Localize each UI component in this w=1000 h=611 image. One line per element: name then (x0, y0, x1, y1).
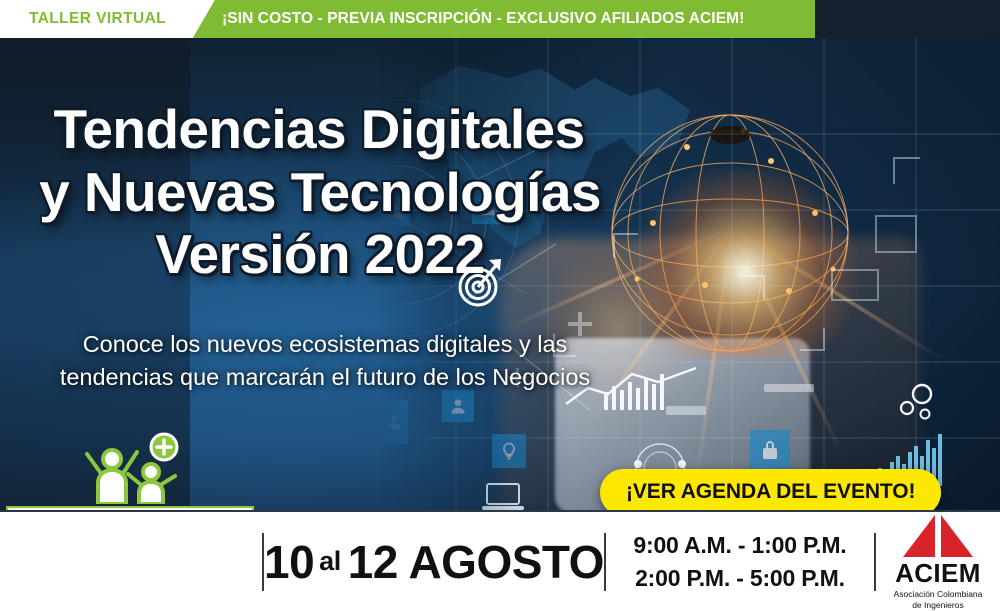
aciem-logo-name: ACIEM (884, 558, 992, 589)
person-avatar-icon (442, 390, 474, 422)
title-line-3: Versión 2022 (0, 223, 640, 286)
top-announcement-bar: TALLER VIRTUAL ¡SIN COSTO - PREVIA INSCR… (0, 0, 1000, 38)
laptop-icon (480, 480, 526, 510)
date-connector: al (319, 546, 341, 577)
aciem-logo-sub1: Asociación Colombiana (884, 589, 992, 599)
view-agenda-button[interactable]: ¡VER AGENDA DEL EVENTO! (600, 469, 941, 510)
lock-icon (750, 430, 790, 470)
target-arrow-icon (448, 254, 504, 310)
schedule-afternoon: 2:00 P.M. - 5:00 P.M. (635, 562, 845, 595)
promo-conditions-label: ¡SIN COSTO - PREVIA INSCRIPCIÓN - EXCLUS… (222, 0, 744, 38)
date-end-and-month: 12 AGOSTO (348, 535, 604, 589)
title-line-1: Tendencias Digitales (0, 98, 640, 161)
event-date: 10 al 12 AGOSTO (264, 535, 604, 589)
lightbulb-icon (492, 434, 526, 468)
event-schedule: 9:00 A.M. - 1:00 P.M. 2:00 P.M. - 5:00 P… (606, 529, 874, 594)
aciem-logo-cell: ACIEM Asociación Colombiana de Ingeniero… (876, 513, 1000, 610)
aciem-logo-sub2: de Ingenieros (884, 600, 992, 610)
event-title-group: Tendencias Digitales y Nuevas Tecnología… (0, 98, 640, 286)
footer-left-spacer (0, 512, 262, 611)
schedule-morning: 9:00 A.M. - 1:00 P.M. (633, 529, 846, 562)
title-line-2: y Nuevas Tecnologías (0, 161, 640, 224)
gears-icon (888, 374, 944, 430)
event-subtitle: Conoce los nuevos ecosistemas digitales … (10, 328, 640, 395)
person-card-icon (380, 400, 408, 444)
people-add-icon (71, 432, 189, 504)
aciem-triangle-icon (897, 513, 979, 559)
taller-virtual-label: TALLER VIRTUAL (29, 0, 166, 38)
date-start-day: 10 (264, 535, 314, 589)
event-promo-banner: TALLER VIRTUAL ¡SIN COSTO - PREVIA INSCR… (0, 0, 1000, 611)
subtitle-line-2: tendencias que marcarán el futuro de los… (10, 361, 640, 394)
subtitle-line-1: Conoce los nuevos ecosistemas digitales … (10, 328, 640, 361)
aciem-logo: ACIEM Asociación Colombiana de Ingeniero… (884, 513, 992, 610)
footer-bar: 10 al 12 AGOSTO 9:00 A.M. - 1:00 P.M. 2:… (0, 510, 1000, 611)
